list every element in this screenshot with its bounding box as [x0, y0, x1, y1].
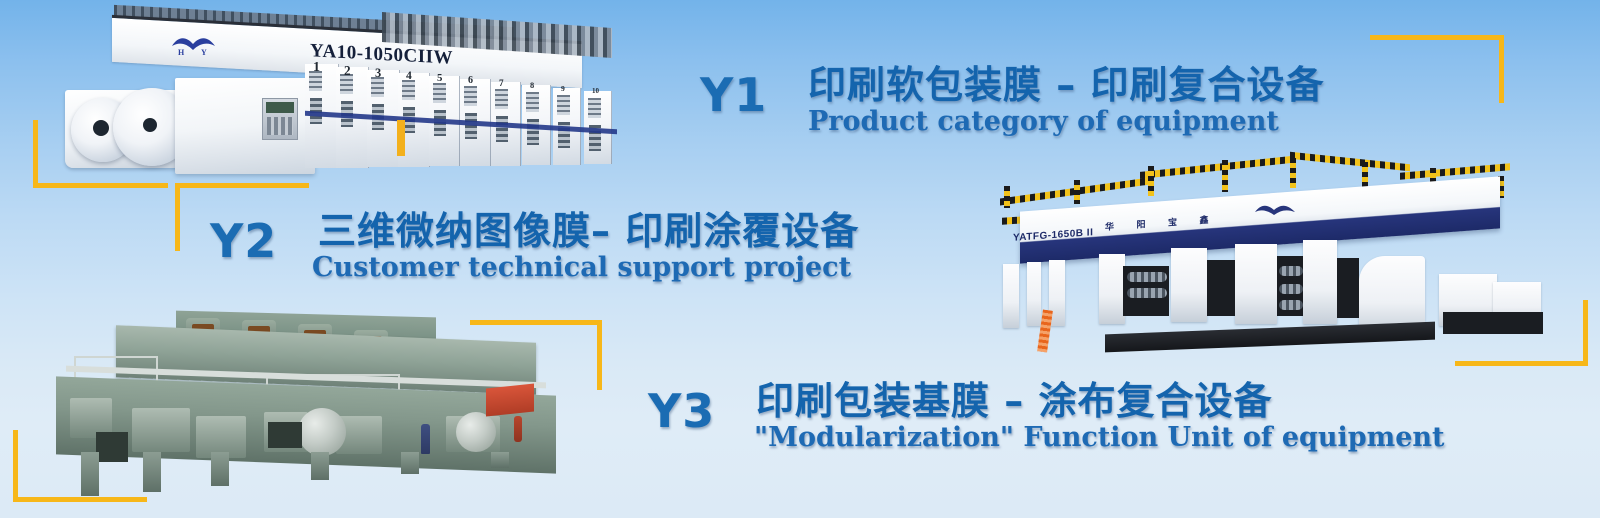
hy-brand-logo-icon: H Y [170, 34, 218, 56]
hy-brand-logo-icon [1253, 202, 1297, 220]
press-body: 12345678910 [57, 58, 617, 163]
machine-photo-coating-line [36, 312, 576, 494]
press-unit-number: 6 [468, 75, 473, 86]
entry-y1-code: Y1 [700, 72, 767, 118]
entry-y2-chinese: 三维微纳图像膜– 印刷涂覆设备 [318, 212, 859, 252]
press-unit-number: 4 [406, 69, 412, 82]
entry-y1-english: Product category of equipment [808, 108, 1279, 136]
entry-y3-code: Y3 [648, 388, 715, 434]
machine-photo-rotogravure-press: 12345678910 H Y YA10-1050CIIW [52, 6, 600, 176]
machine-photo-lamination-line: 华 阳 宝 鑫 YATFG-1650B II [985, 152, 1545, 370]
bracket-y2-top-v [175, 183, 180, 251]
svg-text:Y: Y [201, 48, 207, 56]
roll-hub [93, 120, 109, 136]
bracket-y2-top-h [175, 183, 309, 188]
bracket-bottom-left-v [13, 430, 18, 502]
bracket-mid-left-v [597, 320, 602, 390]
bracket-top-left-v [33, 120, 38, 186]
entry-y3-chinese: 印刷包装基膜 – 涂布复合设备 [756, 382, 1272, 422]
press-yellow-marker [397, 120, 405, 156]
roll-hub [143, 118, 157, 132]
bracket-top-left-stub [140, 183, 168, 188]
press-unit-number: 10 [592, 87, 599, 95]
bracket-top-right-h [1370, 35, 1504, 40]
entry-y3-english: "Modularization" Function Unit of equipm… [754, 424, 1445, 452]
entry-y1-chinese: 印刷软包装膜 – 印刷复合设备 [808, 66, 1324, 106]
operator-figure [514, 416, 522, 442]
entry-y2-code: Y2 [210, 218, 277, 264]
product-category-banner: 12345678910 H Y YA10-1050CIIW [0, 0, 1600, 518]
bracket-top-right-v [1499, 35, 1504, 103]
coating-support-legs [61, 452, 561, 498]
bracket-bottom-right-v [1583, 300, 1588, 366]
press-unit-number: 9 [561, 84, 565, 93]
bracket-top-left-h [33, 183, 143, 188]
svg-text:H: H [178, 48, 185, 56]
press-unit-number: 3 [375, 66, 381, 81]
press-unit-number: 8 [530, 81, 534, 90]
press-unit-number: 5 [437, 72, 442, 84]
operator-figure [421, 424, 430, 454]
press-control-panel [262, 98, 298, 140]
press-unit-number: 7 [499, 78, 504, 88]
entry-y2-english: Customer technical support project [312, 254, 851, 282]
coating-red-panel [486, 383, 534, 416]
press-unit-number: 2 [344, 63, 351, 79]
